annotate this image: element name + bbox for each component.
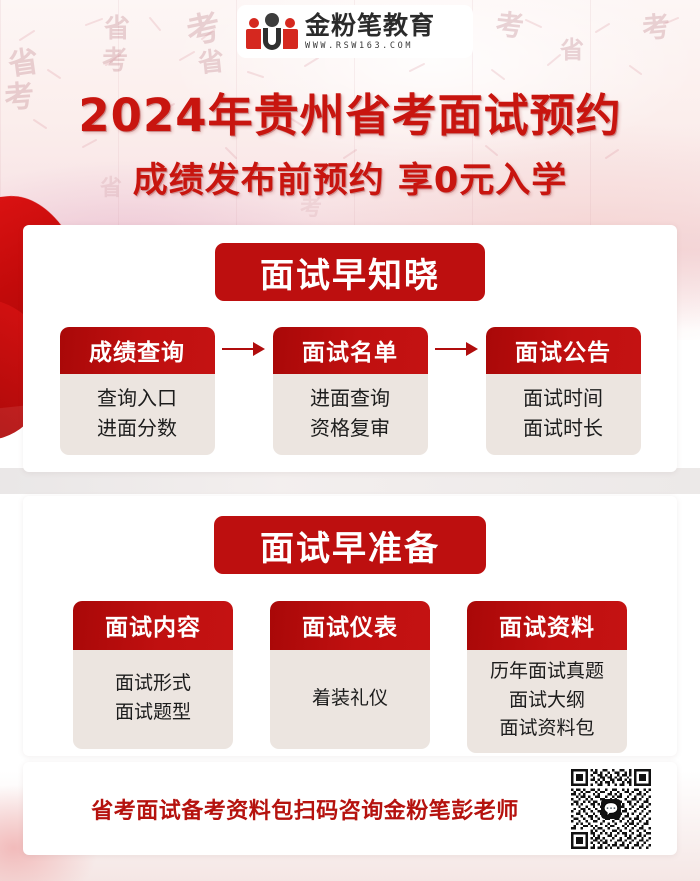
- right-arrow-icon: [435, 339, 479, 359]
- info-card-interview-appearance[interactable]: 面试仪表 着装礼仪: [270, 601, 430, 749]
- brand-url: WWW.RSW163.COM: [305, 42, 435, 51]
- u-figure-logo-icon: [246, 12, 298, 52]
- info-card-header: 面试公告: [486, 327, 641, 374]
- footer-cta-text: 省考面试备考资料包扫码咨询金粉笔彭老师: [55, 793, 571, 825]
- info-card-body: 历年面试真题 面试大纲 面试资料包: [467, 650, 627, 753]
- poster-root: 省 考 省 考 考 省 考 省 考 省 考 金粉笔教育 WWW.RSW163.C…: [0, 0, 700, 881]
- info-card-interview-list[interactable]: 面试名单 进面查询 资格复审: [273, 327, 428, 455]
- brand-name: 金粉笔教育: [305, 13, 435, 38]
- background-ghost-char: 考: [640, 5, 671, 47]
- info-card-interview-notice[interactable]: 面试公告 面试时间 面试时长: [486, 327, 641, 455]
- info-card-header: 面试名单: [273, 327, 428, 374]
- info-card-line: 面试题型: [115, 700, 191, 726]
- info-card-interview-materials[interactable]: 面试资料 历年面试真题 面试大纲 面试资料包: [467, 601, 627, 753]
- section-early-prepare: 面试早准备 面试内容 面试形式 面试题型 面试仪表 着装礼仪 面试资料: [23, 496, 677, 756]
- flow-arrow-2: [428, 327, 486, 359]
- page-subtitle: 成绩发布前预约 享0元入学: [0, 152, 700, 203]
- info-card-line: 查询入口: [97, 385, 177, 412]
- flow-arrow-1: [215, 327, 273, 359]
- info-card-body: 面试时间 面试时长: [486, 374, 641, 455]
- early-prepare-columns: 面试内容 面试形式 面试题型 面试仪表 着装礼仪 面试资料 历年面试真题 面试大…: [23, 601, 677, 753]
- info-card-line: 面试大纲: [509, 688, 585, 714]
- info-card-line: 面试时间: [523, 385, 603, 412]
- info-card-line: 着装礼仪: [312, 686, 388, 712]
- info-card-score-query[interactable]: 成绩查询 查询入口 进面分数: [60, 327, 215, 455]
- info-card-header: 面试资料: [467, 601, 627, 650]
- brand-logo: 金粉笔教育 WWW.RSW163.COM: [237, 5, 473, 58]
- info-card-line: 历年面试真题: [490, 659, 604, 685]
- info-card-line: 进面查询: [310, 385, 390, 412]
- info-card-header: 面试内容: [73, 601, 233, 650]
- early-know-columns: 成绩查询 查询入口 进面分数 面试名单 进面查询 资格复审: [23, 327, 677, 455]
- section-banner-early-know: 面试早知晓: [215, 243, 485, 301]
- info-card-body: 着装礼仪: [270, 650, 430, 749]
- footer-inner: 省考面试备考资料包扫码咨询金粉笔彭老师: [23, 762, 677, 855]
- info-card-body: 进面查询 资格复审: [273, 374, 428, 455]
- background-ghost-char: 考: [494, 3, 526, 46]
- info-card-line: 面试资料包: [499, 716, 594, 742]
- background-ghost-char: 考: [102, 40, 128, 77]
- wechat-qr-code-icon[interactable]: 💬: [571, 769, 651, 849]
- section-banner-early-prepare: 面试早准备: [214, 516, 486, 574]
- page-title: 2024年贵州省考面试预约: [0, 79, 700, 144]
- info-card-body: 查询入口 进面分数: [60, 374, 215, 455]
- info-card-line: 资格复审: [310, 415, 390, 442]
- background-ghost-char: 省: [560, 30, 584, 65]
- info-card-interview-content[interactable]: 面试内容 面试形式 面试题型: [73, 601, 233, 749]
- info-card-line: 面试时长: [523, 415, 603, 442]
- section-footer-cta: 省考面试备考资料包扫码咨询金粉笔彭老师: [23, 762, 677, 855]
- wechat-icon: 💬: [601, 799, 621, 819]
- info-card-line: 面试形式: [115, 671, 191, 697]
- info-card-header: 面试仪表: [270, 601, 430, 650]
- right-arrow-icon: [222, 339, 266, 359]
- section-early-know: 面试早知晓 成绩查询 查询入口 进面分数 面试名单 进面查询 资格复审: [23, 225, 677, 472]
- info-card-header: 成绩查询: [60, 327, 215, 374]
- background-ghost-char: 省: [196, 41, 226, 81]
- info-card-body: 面试形式 面试题型: [73, 650, 233, 749]
- info-card-line: 进面分数: [97, 415, 177, 442]
